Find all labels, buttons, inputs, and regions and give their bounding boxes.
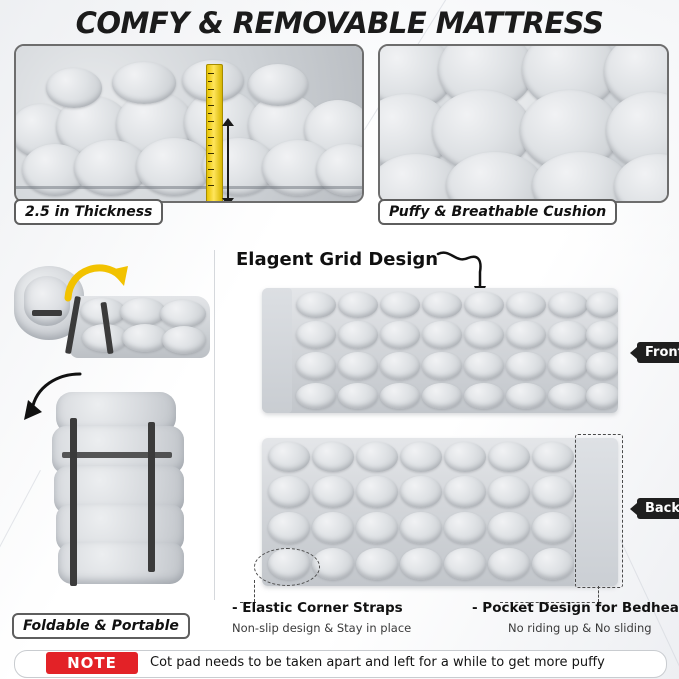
- seam-line: [16, 186, 362, 189]
- back-tag-label: Back: [645, 501, 679, 516]
- caret-left-icon: [630, 503, 637, 515]
- photo-folded: [52, 392, 212, 592]
- note-badge: NOTE: [46, 652, 138, 674]
- foldable-tag: Foldable & Portable: [12, 613, 190, 639]
- strap: [32, 310, 62, 316]
- corner-strap-highlight: [254, 548, 320, 586]
- callout-1-title: - Elastic Corner Straps: [232, 600, 403, 616]
- product-infographic: COMFY & REMOVABLE MATTRESS: [0, 0, 679, 679]
- measure-arrow-down: [222, 198, 234, 203]
- corner-strap-leader: [254, 580, 255, 602]
- divider: [214, 250, 215, 600]
- callout-2-subtitle: No riding up & No sliding: [508, 621, 652, 635]
- tape-measure: [206, 64, 223, 203]
- tuft-grid: [16, 46, 362, 201]
- photo-cushion: [378, 44, 669, 203]
- strap-vertical: [148, 422, 155, 572]
- caret-left-icon: [630, 347, 637, 359]
- grid-section-title: Elagent Grid Design: [236, 249, 438, 270]
- strap-horizontal: [62, 452, 172, 458]
- tuft-grid: [380, 46, 667, 201]
- mattress-front: [262, 288, 618, 413]
- roll-arrow-icon: [60, 254, 130, 308]
- page-title: COMFY & REMOVABLE MATTRESS: [0, 6, 679, 40]
- strap-vertical: [70, 418, 77, 586]
- photo-rolled: [8, 248, 213, 366]
- back-tag: Back: [637, 498, 679, 519]
- pocket-highlight: [575, 434, 623, 588]
- measure-arrow-line: [227, 124, 229, 200]
- thickness-tag: 2.5 in Thickness: [14, 199, 163, 225]
- callout-2-title: - Pocket Design for Bedhead: [472, 600, 679, 616]
- measure-arrow-up: [222, 118, 234, 126]
- front-tag-label: Front: [645, 345, 679, 360]
- front-tag: Front: [637, 342, 679, 363]
- photo-thickness: [14, 44, 364, 203]
- cushion-tag: Puffy & Breathable Cushion: [378, 199, 617, 225]
- note-text: Cot pad needs to be taken apart and left…: [150, 655, 605, 670]
- callout-1-subtitle: Non-slip design & Stay in place: [232, 621, 411, 635]
- front-tuft-grid: [262, 288, 618, 413]
